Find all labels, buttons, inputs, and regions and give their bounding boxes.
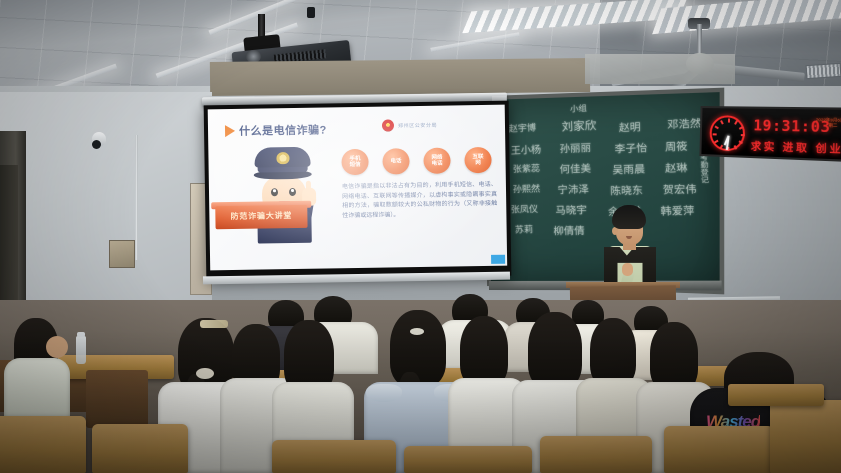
student-hairband — [200, 320, 228, 328]
chair-back — [0, 416, 86, 473]
slide-org-label: 郑州区公安分局 — [398, 122, 437, 130]
presenter-hand — [622, 263, 633, 276]
chalk-text: 刘家欣 — [561, 117, 596, 135]
chalk-text: 张凤仪 — [511, 202, 539, 216]
student-hair-clip — [410, 328, 424, 335]
student-hair — [528, 312, 582, 388]
water-bottle-cap — [77, 332, 85, 337]
student-hand — [46, 336, 68, 358]
chalk-text: 吴雨晨 — [612, 160, 645, 177]
pill-voip: 网络 电话 — [423, 148, 450, 174]
chalk-text: 周筱 — [665, 137, 688, 154]
pill-internet: 互联 网 — [464, 147, 491, 173]
pill-line: 网络 — [431, 154, 442, 160]
chalk-text: 李子怡 — [614, 139, 647, 156]
ceiling-sensor-icon — [307, 7, 315, 18]
wall-utility-box — [109, 240, 135, 268]
police-emblem-icon — [382, 119, 394, 131]
presenter-hair — [612, 205, 646, 229]
chalk-text: 孙丽丽 — [559, 139, 591, 156]
pill-line: 电话 — [432, 161, 443, 167]
wall-beam — [585, 54, 735, 84]
chair-back — [540, 436, 652, 473]
chalk-text: 邓浩然 — [667, 114, 701, 132]
classroom-scene: 小组 赵宇博 刘家欣 赵明 邓浩然 王小杨 孙丽丽 李子怡 周筱 张紫蕊 何佳美… — [0, 0, 841, 473]
slide-corner-accent — [491, 255, 505, 264]
pill-line: 电话 — [390, 158, 401, 164]
student-shirt-ruffle — [366, 384, 402, 402]
air-vent-grille — [806, 63, 841, 79]
chalk-side-note: 考勤登记 — [698, 153, 710, 184]
chair-back — [404, 446, 532, 473]
led-clock-sign: 19:31:03 2022年9月6日 星期二 求实 进取 创业 报国 — [699, 106, 841, 162]
chair-back — [770, 400, 841, 473]
fan-rod — [697, 24, 702, 56]
slide-title-arrow-icon — [225, 125, 235, 137]
pill-line: 手机 — [349, 155, 360, 161]
cop-hat-badge-icon — [276, 152, 289, 164]
presentation-slide: 什么是电信诈骗? 郑州区公安分局 — [208, 105, 507, 271]
chair-back — [272, 440, 396, 473]
chalk-text: 柳倩倩 — [553, 222, 585, 238]
chalk-text: 赵明 — [619, 118, 641, 135]
slide-title: 什么是电信诈骗? — [239, 121, 327, 138]
led-date-display: 2022年9月6日 星期二 — [814, 117, 841, 128]
chalk-text: 苏莉 — [515, 222, 534, 235]
student-hair — [590, 318, 636, 386]
pill-line: 短信 — [350, 162, 361, 168]
student-hair — [650, 322, 698, 390]
analog-clock-icon — [709, 115, 745, 151]
chair-back — [92, 424, 188, 473]
desk — [728, 384, 824, 406]
cop-eye-highlight — [273, 189, 276, 192]
chalk-text: 何佳美 — [559, 159, 591, 176]
student-hair — [460, 316, 508, 386]
chalk-text: 韩爱萍 — [660, 201, 694, 218]
chalk-text: 张紫蕊 — [513, 161, 541, 175]
slide-body-text: 电信诈骗是指以非法占有为目的，利用手机短信、电话、网络电话、互联网等传播媒介，以… — [342, 181, 498, 221]
pill-mobile-sms: 手机 短信 — [341, 149, 368, 175]
chalk-text: 孙熙然 — [513, 181, 541, 195]
chalk-text: 贺宏伟 — [663, 180, 697, 197]
cop-eye-highlight — [291, 189, 294, 192]
student-scrunchie — [196, 368, 214, 379]
chalk-text: 宁沛泽 — [557, 180, 589, 196]
chalk-text: 赵宇博 — [509, 120, 537, 135]
security-camera-lens-icon — [92, 140, 101, 149]
projection-screen: 什么是电信诈骗? 郑州区公安分局 — [204, 101, 512, 281]
cop-pointing-finger-icon — [306, 181, 311, 193]
student-shirt — [4, 358, 70, 422]
pill-line: 互联 — [472, 154, 483, 160]
led-motto-display: 求实 进取 创业 报国 — [751, 137, 841, 157]
chalk-text: 王小杨 — [511, 141, 542, 157]
chair-back — [664, 426, 774, 473]
wall-beam — [210, 58, 590, 96]
water-bottle — [76, 336, 86, 364]
chalk-text: 赵琳 — [665, 158, 688, 175]
chalk-text: 小组 — [570, 103, 587, 115]
chalk-text: 陈晓东 — [610, 181, 643, 198]
pill-line: 网 — [475, 160, 481, 166]
chalk-text: 马晓宇 — [555, 201, 587, 217]
podium-banner-text: 防范诈骗大讲堂 — [215, 210, 307, 222]
pill-phone: 电话 — [382, 148, 409, 174]
student-hair — [390, 310, 446, 386]
fraud-channel-pills: 手机 短信 电话 网络 电话 互联 — [341, 147, 501, 176]
desk-side-panel — [86, 370, 148, 428]
wall-conduit — [135, 135, 138, 260]
